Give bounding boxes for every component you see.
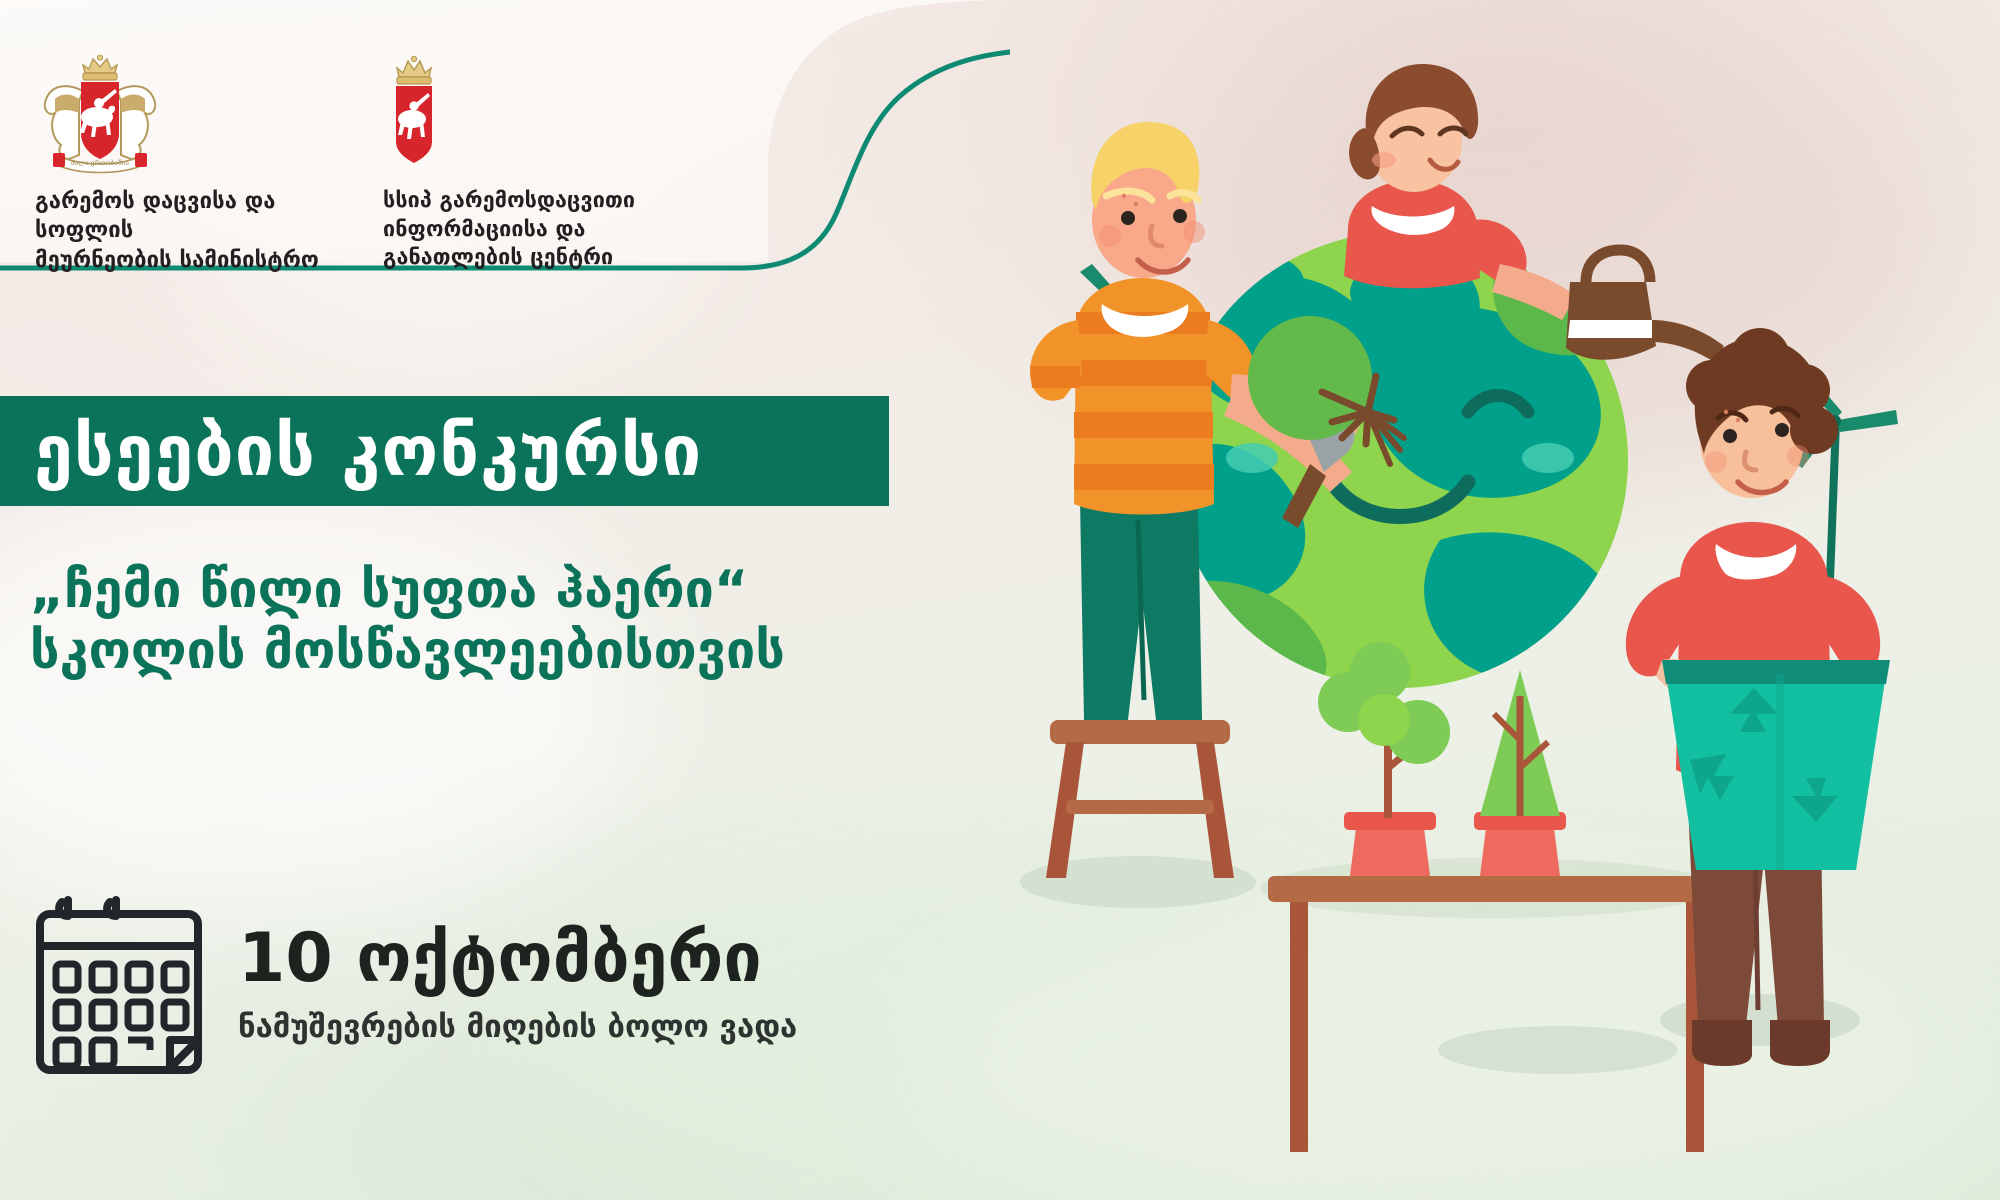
deadline-date: 10 ოქტომბერი (238, 925, 797, 993)
center-logo-block: სსიპ გარემოსდაცვითი ინფორმაციისა და განა… (383, 55, 683, 273)
shadow (1438, 1026, 1678, 1074)
page-title: ესეების კონკურსი (0, 416, 702, 486)
center-name: სსიპ გარემოსდაცვითი ინფორმაციისა და განა… (383, 187, 683, 273)
georgia-small-shield-icon (383, 55, 445, 177)
poster-root: ძალა ერთობაშია გარემოს დაცვისა და სოფლის… (0, 0, 2000, 1200)
recycling-bin (1662, 660, 1890, 870)
deadline-caption: ნამუშევრების მიღების ბოლო ვადა (238, 1009, 797, 1045)
potted-plant (1474, 670, 1566, 876)
logo-row: ძალა ერთობაშია გარემოს დაცვისა და სოფლის… (0, 0, 760, 270)
svg-text:ძალა ერთობაშია: ძალა ერთობაშია (71, 159, 130, 167)
step-stool (1046, 720, 1234, 878)
calendar-icon (30, 890, 208, 1080)
title-banner: ესეების კონკურსი (0, 396, 889, 506)
ministry-name: გარემოს დაცვისა და სოფლის მეურნეობის სამ… (35, 187, 365, 275)
subtitle-block: „ჩემი წილი სუფთა ჰაერი“ სკოლის მოსწავლეე… (30, 560, 960, 683)
children-planting-earth-illustration (880, 20, 2000, 1200)
deadline-text: 10 ოქტომბერი ნამუშევრების მიღების ბოლო ვ… (238, 925, 797, 1045)
georgia-coat-of-arms-icon: ძალა ერთობაშია (35, 55, 165, 177)
subtitle-line-2: სკოლის მოსწავლეებისთვის (30, 621, 960, 682)
deadline-block: 10 ოქტომბერი ნამუშევრების მიღების ბოლო ვ… (30, 890, 797, 1080)
ministry-logo-block: ძალა ერთობაშია გარემოს დაცვისა და სოფლის… (35, 55, 365, 275)
subtitle-line-1: „ჩემი წილი სუფთა ჰაერი“ (30, 560, 960, 621)
boy-holding-recycling-bin (1626, 328, 1890, 1066)
background-wash (0, 480, 640, 910)
